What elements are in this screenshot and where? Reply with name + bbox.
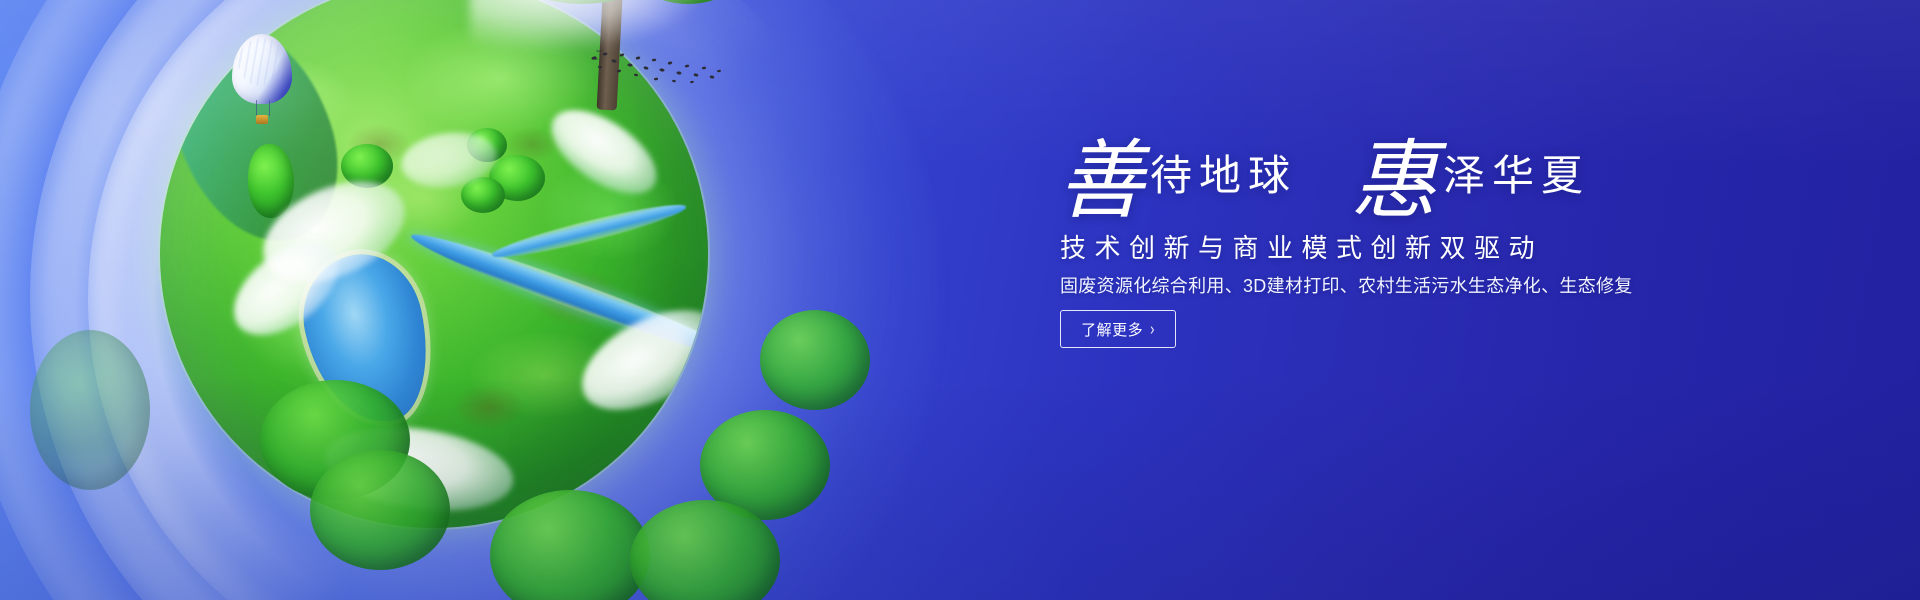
balloon-envelope	[232, 34, 292, 104]
headline-text-zehuaxia: 泽华夏	[1443, 154, 1590, 200]
tree-mist	[470, 0, 700, 50]
page-title: 善待地球惠泽华夏	[1058, 138, 1590, 224]
hero-content: 善待地球惠泽华夏 技术创新与商业模式创新双驱动 固废资源化综合利用、3D建材打印…	[1058, 0, 1778, 600]
chevron-right-icon: ›	[1150, 319, 1155, 337]
birds-flock-icon	[586, 48, 726, 88]
forest-tree-icon	[760, 310, 870, 410]
learn-more-button[interactable]: 了解更多 ›	[1060, 310, 1176, 348]
hot-air-balloon-icon	[232, 34, 292, 134]
forest-tree-icon	[310, 450, 450, 570]
headline-char-shan: 善	[1058, 133, 1144, 229]
hero-banner: 善待地球惠泽华夏 技术创新与商业模式创新双驱动 固废资源化综合利用、3D建材打印…	[0, 0, 1920, 600]
hero-description: 固废资源化综合利用、3D建材打印、农村生活污水生态净化、生态修复	[1060, 272, 1633, 298]
earth-illustration	[0, 0, 1000, 600]
headline-char-hui: 惠	[1351, 133, 1437, 229]
learn-more-label: 了解更多	[1081, 319, 1143, 340]
background-tree-icon	[30, 330, 150, 490]
headline-text-daidiqiu: 待地球	[1150, 154, 1297, 200]
balloon-basket	[256, 115, 268, 124]
hero-subtitle: 技术创新与商业模式创新双驱动	[1060, 228, 1543, 265]
balloon-ropes	[256, 100, 270, 116]
